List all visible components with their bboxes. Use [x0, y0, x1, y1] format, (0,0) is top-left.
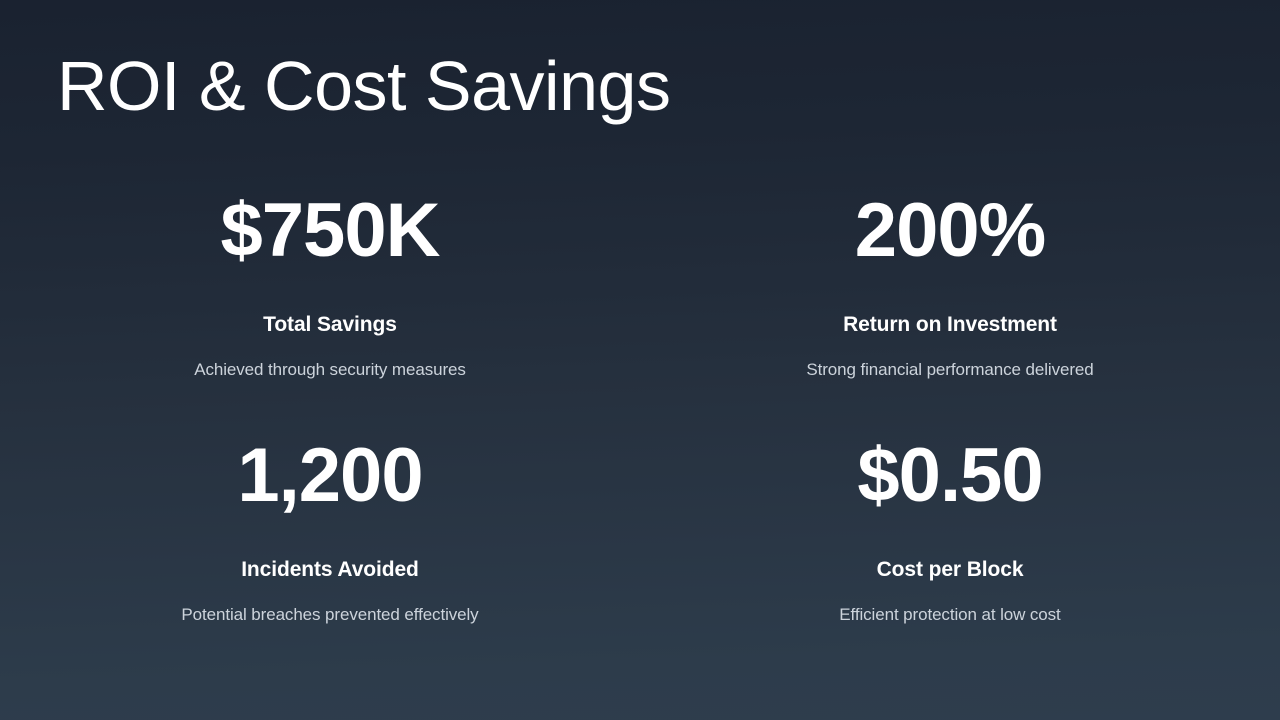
stat-label: Cost per Block [877, 557, 1024, 582]
stat-label: Return on Investment [843, 312, 1057, 337]
stat-description: Achieved through security measures [194, 359, 466, 381]
stat-block-incidents-avoided: 1,200 Incidents Avoided Potential breach… [20, 420, 640, 665]
stat-description: Strong financial performance delivered [806, 359, 1093, 381]
stat-description: Potential breaches prevented effectively [181, 604, 478, 626]
stat-description: Efficient protection at low cost [839, 604, 1060, 626]
stat-block-cost-per-block: $0.50 Cost per Block Efficient protectio… [640, 420, 1260, 665]
stats-grid: $750K Total Savings Achieved through sec… [20, 175, 1260, 665]
stat-label: Total Savings [263, 312, 397, 337]
stat-block-total-savings: $750K Total Savings Achieved through sec… [20, 175, 640, 420]
stat-label: Incidents Avoided [241, 557, 419, 582]
stat-value: $0.50 [857, 438, 1042, 514]
page-title: ROI & Cost Savings [57, 46, 670, 127]
stat-block-return-on-investment: 200% Return on Investment Strong financi… [640, 175, 1260, 420]
slide-root: ROI & Cost Savings $750K Total Savings A… [0, 0, 1280, 720]
stat-value: $750K [221, 193, 440, 269]
stat-value: 200% [855, 193, 1045, 269]
stat-value: 1,200 [237, 438, 422, 514]
